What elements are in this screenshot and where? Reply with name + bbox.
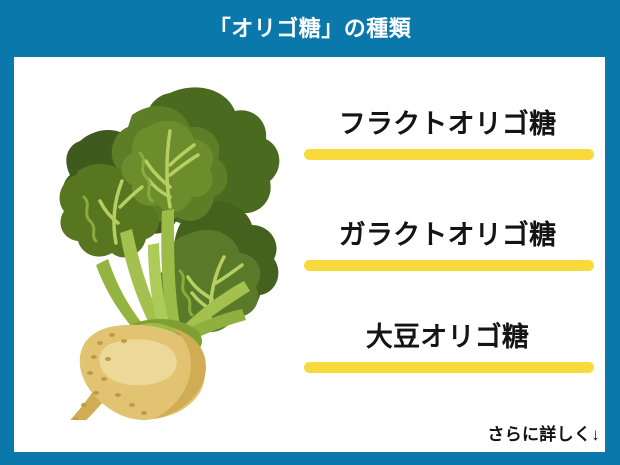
oligosaccharide-list: フラクトオリゴ糖 ガラクトオリゴ糖 大豆オリゴ糖 <box>290 57 605 397</box>
list-item-underline <box>304 149 594 160</box>
beet-root-tail <box>58 393 102 420</box>
content-card: フラクトオリゴ糖 ガラクトオリゴ糖 大豆オリゴ糖 さらに詳しく↓ <box>14 57 605 452</box>
list-item-underline <box>304 260 594 271</box>
page-title: 「オリゴ糖」の種類 <box>0 14 620 44</box>
slide-root: 「オリゴ糖」の種類 <box>0 0 620 465</box>
list-item-underline <box>304 362 594 373</box>
list-item-label: フラクトオリゴ糖 <box>290 107 605 141</box>
list-item-label: 大豆オリゴ糖 <box>290 320 605 354</box>
list-item-label: ガラクトオリゴ糖 <box>290 218 605 252</box>
sugar-beet-svg <box>20 75 290 420</box>
beet-root-highlight <box>99 339 176 385</box>
sugar-beet-illustration <box>20 75 290 420</box>
more-details-link[interactable]: さらに詳しく↓ <box>487 424 600 446</box>
